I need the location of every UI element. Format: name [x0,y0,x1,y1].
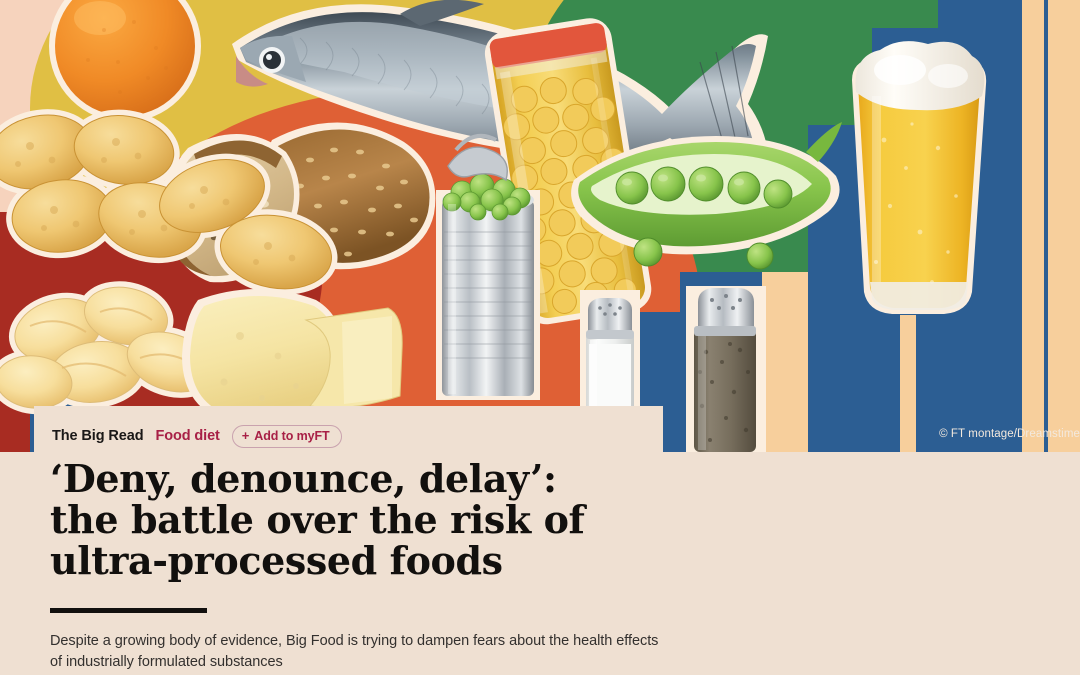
article-header: ‘Deny, denounce, delay’: the battle over… [50,458,690,672]
topic-link[interactable]: Food diet [155,428,219,444]
plus-icon: + [242,429,250,442]
add-to-myft-button[interactable]: + Add to myFT [232,425,342,448]
pepper-shaker-illustration [686,286,766,452]
add-to-myft-label: Add to myFT [254,429,329,443]
page-title: ‘Deny, denounce, delay’: the battle over… [50,458,635,581]
article-page: © FT montage/Dreamstime The Big Read Foo… [0,0,1080,675]
image-credit: © FT montage/Dreamstime [939,429,1080,441]
hero-collage-svg [0,0,1080,452]
standfirst: Despite a growing body of evidence, Big … [50,631,665,672]
kicker-label: The Big Read [52,428,143,444]
article-meta: The Big Read Food diet + Add to myFT [52,425,342,447]
headline-rule [50,608,207,613]
hero-image: © FT montage/Dreamstime [0,0,1080,452]
